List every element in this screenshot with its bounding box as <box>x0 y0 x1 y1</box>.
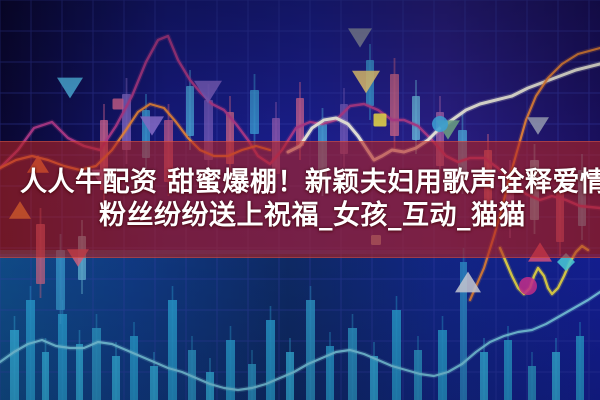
headline-line-1: 人人牛配资 甜蜜爆棚！新颖夫妇用歌声诠释爱情， <box>20 167 586 200</box>
headline-line-2: 粉丝纷纷送上祝福_女孩_互动_猫猫 <box>20 200 586 233</box>
screenshot-canvas: 人人牛配资 甜蜜爆棚！新颖夫妇用歌声诠释爱情， 粉丝纷纷送上祝福_女孩_互动_猫… <box>0 0 600 400</box>
headline-banner: 人人牛配资 甜蜜爆棚！新颖夫妇用歌声诠释爱情， 粉丝纷纷送上祝福_女孩_互动_猫… <box>0 141 600 258</box>
